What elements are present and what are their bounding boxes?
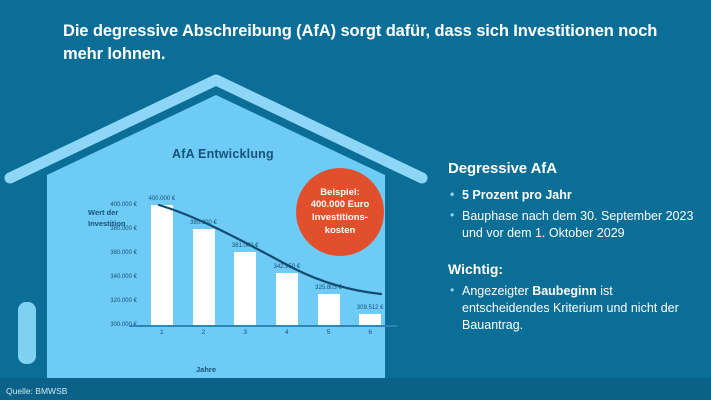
example-badge: Beispiel: 400.000 Euro Investitions- kos…	[296, 168, 384, 256]
info-panel: Degressive AfA 5 Prozent pro Jahr Baupha…	[448, 160, 700, 338]
x-tick: 2	[202, 329, 206, 336]
x-tick: 3	[243, 329, 247, 336]
panel-important-list: Angezeigter Baubeginn ist entscheidendes…	[448, 283, 700, 333]
source-credit: Quelle: BMWSB	[6, 386, 67, 396]
badge-line-2: 400.000 Euro	[311, 199, 370, 212]
x-tick: 6	[368, 329, 372, 336]
x-axis-title: Jahre	[196, 365, 216, 374]
infographic-canvas: Die degressive Abschreibung (AfA) sorgt …	[0, 0, 711, 400]
page-title: Die degressive Abschreibung (AfA) sorgt …	[63, 20, 663, 66]
panel-heading: Degressive AfA	[448, 160, 700, 177]
x-tick: 4	[285, 329, 289, 336]
x-tick: 1	[160, 329, 164, 336]
panel-bullet-period: Bauphase nach dem 30. September 2023 und…	[448, 208, 700, 242]
footer-bar	[0, 378, 711, 400]
x-tick: 5	[327, 329, 331, 336]
badge-line-3: Investitions-	[312, 212, 368, 225]
bullet-text-pre: Angezeigter	[462, 284, 532, 298]
badge-line-4: kosten	[325, 225, 356, 238]
house-door	[18, 302, 36, 364]
bullet-text-bold: Baubeginn	[532, 284, 597, 298]
panel-bullet-list: 5 Prozent pro Jahr Bauphase nach dem 30.…	[448, 187, 700, 241]
panel-bullet-rate: 5 Prozent pro Jahr	[448, 187, 700, 204]
panel-subheading: Wichtig:	[448, 261, 700, 277]
chart-title: AfA Entwicklung	[172, 147, 274, 161]
badge-line-1: Beispiel:	[320, 187, 360, 200]
panel-bullet-baubeginn: Angezeigter Baubeginn ist entscheidendes…	[448, 283, 700, 333]
